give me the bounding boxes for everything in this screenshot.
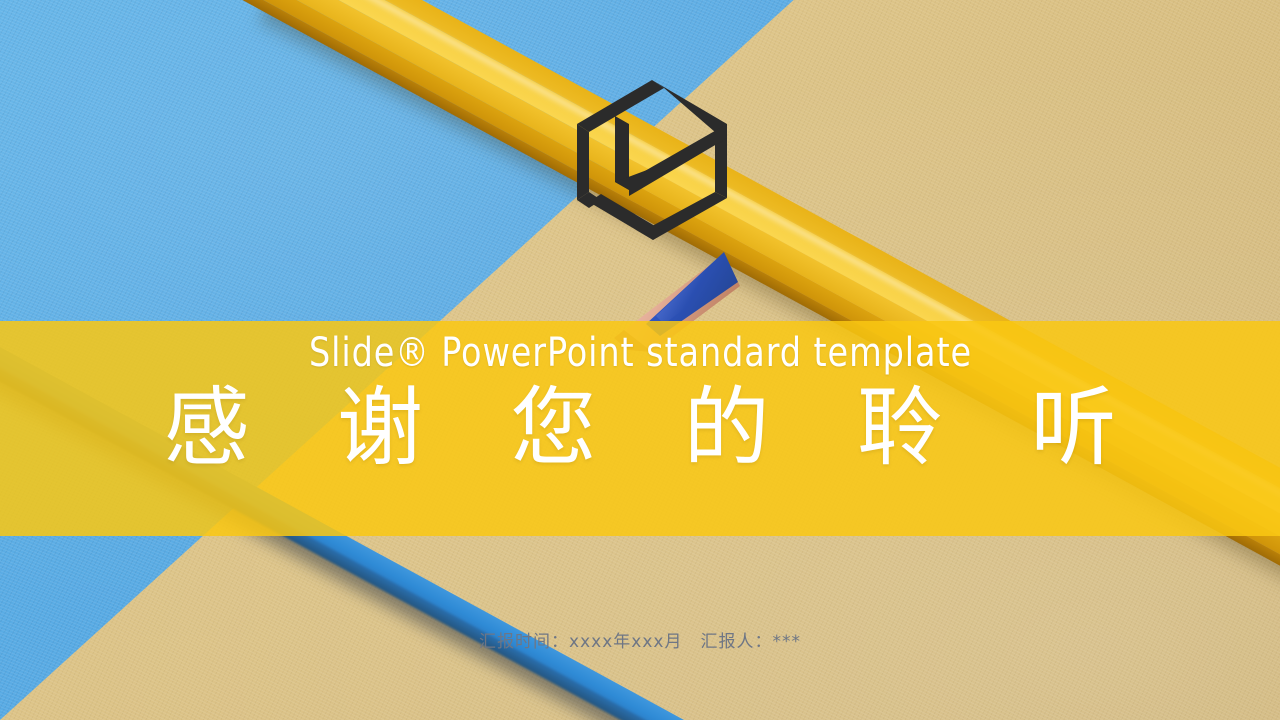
title-banner: Slide® PowerPoint standard template 感 谢 … — [0, 321, 1280, 536]
report-time-label: 汇报时间： — [479, 632, 569, 652]
hexagon-check-logo-icon — [575, 80, 730, 240]
slide-heading: 感 谢 您 的 聆 听 — [134, 383, 1147, 473]
reporter-value: *** — [772, 632, 801, 652]
slide-subtitle: Slide® PowerPoint standard template — [308, 333, 971, 373]
reporter-label: 汇报人： — [700, 632, 772, 652]
report-time-value: xxxx年xxx月 — [569, 632, 682, 652]
presentation-slide: Slide® PowerPoint standard template 感 谢 … — [0, 0, 1280, 720]
slide-footer: 汇报时间：xxxx年xxx月汇报人：*** — [0, 627, 1280, 652]
